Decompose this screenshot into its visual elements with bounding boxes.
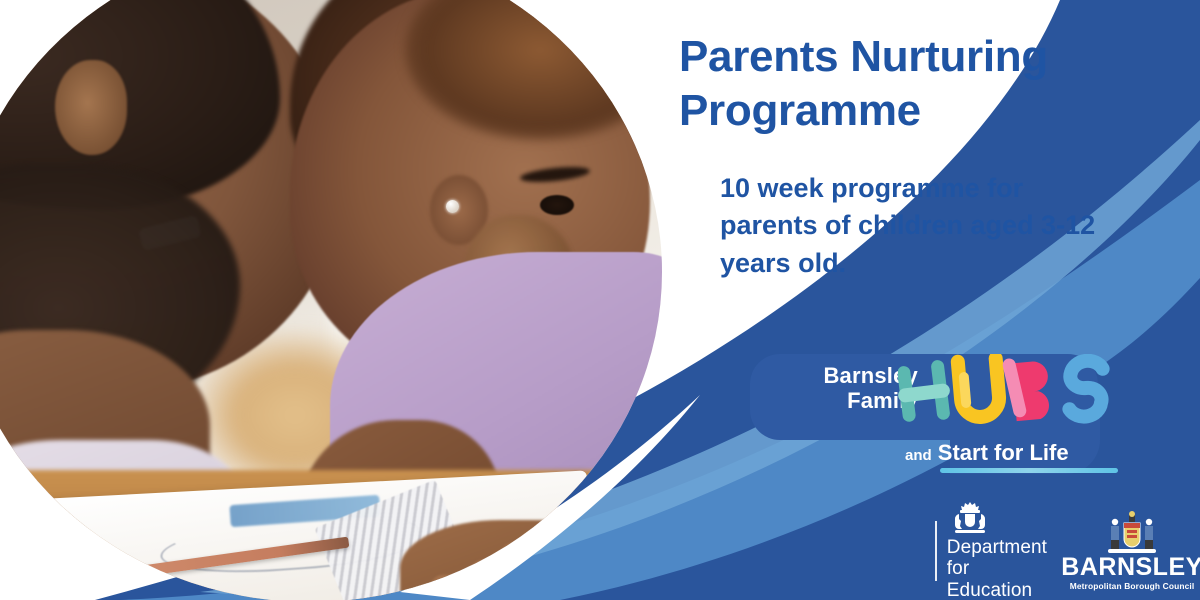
title-line-2: Programme bbox=[679, 84, 1149, 138]
hubs-letter-h bbox=[898, 359, 951, 422]
logo-brand-text: Barnsley Family bbox=[768, 364, 918, 413]
subtitle-line-2: parents of children aged 3-12 bbox=[720, 207, 1140, 244]
poster-canvas: Parents Nurturing Programme 10 week prog… bbox=[0, 0, 1200, 600]
dfe-divider-rule bbox=[935, 521, 937, 581]
hubs-letter-u bbox=[958, 358, 1001, 418]
page-title: Parents Nurturing Programme bbox=[679, 30, 1149, 137]
dfe-line-2: for Education bbox=[947, 558, 1048, 600]
council-name: BARNSLEY bbox=[1061, 555, 1200, 580]
coat-of-arms-icon bbox=[1105, 511, 1159, 555]
tagline-underline bbox=[940, 468, 1118, 473]
title-line-1: Parents Nurturing bbox=[679, 30, 1149, 84]
royal-crest-icon bbox=[947, 501, 993, 535]
hubs-letter-s bbox=[1066, 360, 1106, 418]
hero-photo bbox=[0, 0, 720, 600]
partner-logos: Department for Education bbox=[935, 516, 1200, 586]
logo-tagline: and Start for Life bbox=[905, 440, 1115, 466]
page-subtitle: 10 week programme for parents of childre… bbox=[720, 170, 1140, 282]
council-subtitle: Metropolitan Borough Council bbox=[1070, 581, 1195, 591]
subtitle-line-3: years old. bbox=[720, 245, 1140, 282]
department-for-education-logo: Department for Education bbox=[935, 501, 1047, 600]
father-and-child-photo bbox=[0, 0, 720, 600]
hubs-letter-b bbox=[1001, 357, 1051, 421]
tagline-and: and bbox=[905, 447, 932, 464]
barnsley-family-hubs-logo: Barnsley Family bbox=[750, 352, 1110, 482]
logo-brand-line-2: Family bbox=[768, 389, 918, 414]
hubs-wordmark bbox=[898, 354, 1110, 430]
dfe-wordmark: Department for Education bbox=[947, 537, 1048, 600]
dfe-line-1: Department bbox=[947, 537, 1048, 558]
barnsley-council-logo: BARNSLEY Metropolitan Borough Council bbox=[1061, 511, 1200, 591]
logo-brand-line-1: Barnsley bbox=[768, 364, 918, 389]
subtitle-line-1: 10 week programme for bbox=[720, 170, 1140, 207]
tagline-main: Start for Life bbox=[938, 440, 1069, 465]
